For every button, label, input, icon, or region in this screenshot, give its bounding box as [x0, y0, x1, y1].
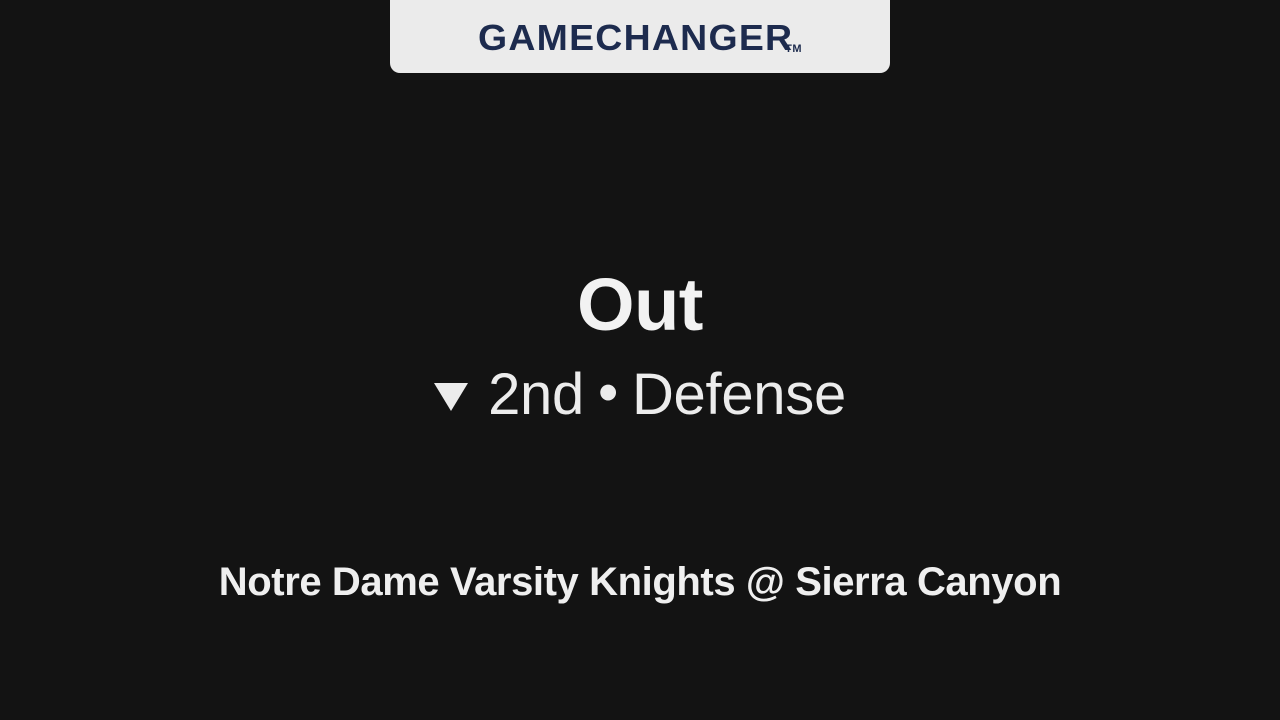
side-label: Defense	[632, 366, 846, 424]
event-readout: Out 2nd • Defense	[0, 268, 1280, 424]
gamechanger-logo-bug: GAMECHANGER TM	[390, 0, 890, 73]
broadcast-overlay-screen: GAMECHANGER TM Out 2nd • Defense Notre D…	[0, 0, 1280, 720]
event-context-line: 2nd • Defense	[0, 366, 1280, 424]
gamechanger-wordmark: GAMECHANGER	[478, 20, 793, 56]
triangle-down-icon	[434, 383, 468, 411]
matchup-label: Notre Dame Varsity Knights @ Sierra Cany…	[0, 560, 1280, 604]
inning-label: 2nd	[488, 366, 584, 424]
play-result-headline: Out	[0, 268, 1280, 342]
separator-bullet: •	[598, 364, 618, 422]
logo-lockup: GAMECHANGER TM	[478, 20, 802, 56]
